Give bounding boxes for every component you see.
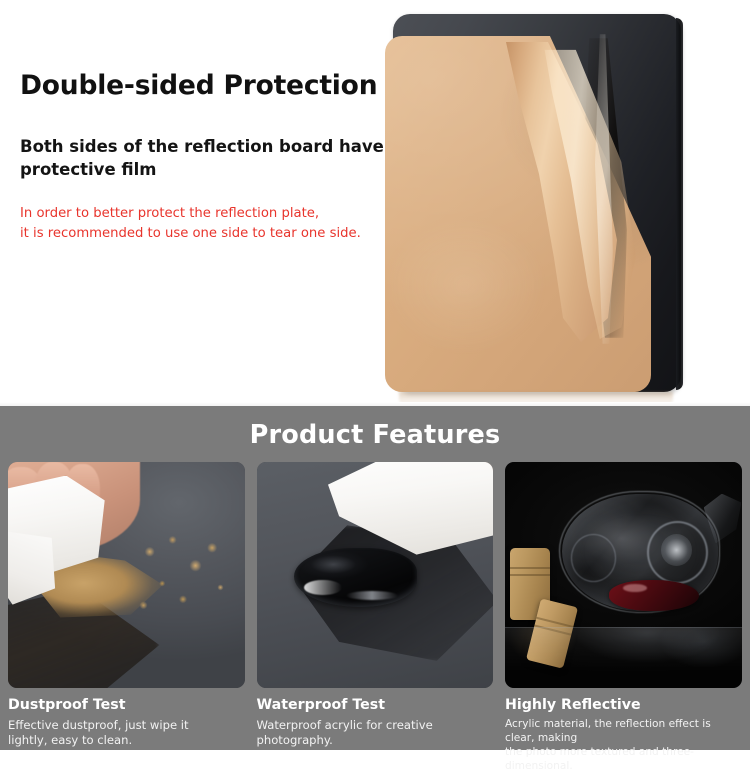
- hero-text-block: Double-sided Protection Both sides of th…: [20, 70, 400, 244]
- page-title: Double-sided Protection: [20, 70, 400, 102]
- hero-section: Double-sided Protection Both sides of th…: [0, 0, 750, 406]
- droplet-highlight: [304, 580, 342, 596]
- cork-ring: [510, 574, 550, 576]
- hero-note-line-1: In order to better protect the reflectio…: [20, 204, 395, 224]
- wine-highlight: [623, 584, 647, 592]
- feature-card-desc: Acrylic material, the reflection effect …: [505, 718, 742, 774]
- feature-card-list: Dustproof Test Effective dustproof, just…: [8, 462, 742, 774]
- feature-card-dustproof: Dustproof Test Effective dustproof, just…: [8, 462, 245, 774]
- surface-reflection: [505, 627, 742, 688]
- feature-photo-waterproof: [257, 462, 494, 688]
- feature-card-title: Waterproof Test: [257, 697, 494, 715]
- feature-card-title: Highly Reflective: [505, 697, 742, 715]
- hero-subtitle: Both sides of the reflection board have …: [20, 135, 385, 182]
- droplet-highlight: [346, 591, 398, 600]
- product-photo-acrylic-board: [385, 14, 685, 398]
- hero-note: In order to better protect the reflectio…: [20, 204, 395, 244]
- hero-note-line-2: it is recommended to use one side to tea…: [20, 224, 395, 244]
- feature-card-waterproof: Waterproof Test Waterproof acrylic for c…: [257, 462, 494, 774]
- feature-card-desc-line-2: lightly, easy to clean.: [8, 733, 245, 748]
- feature-card-title: Dustproof Test: [8, 697, 245, 715]
- features-title: Product Features: [0, 420, 750, 450]
- feature-photo-reflective: [505, 462, 742, 688]
- feature-card-desc-line-1: Waterproof acrylic for creative: [257, 718, 494, 733]
- feature-photo-dustproof: [8, 462, 245, 688]
- feature-card-reflective: Highly Reflective Acrylic material, the …: [505, 462, 742, 774]
- feature-card-desc: Effective dustproof, just wipe it lightl…: [8, 718, 245, 749]
- features-section: Product Features Dustproof Test Effectiv…: [0, 406, 750, 750]
- glass-reflection-swirl: [571, 534, 616, 581]
- feature-card-desc-line-1: Effective dustproof, just wipe it: [8, 718, 245, 733]
- acrylic-edge: [676, 18, 683, 390]
- cork-ring: [510, 567, 550, 569]
- feature-card-desc: Waterproof acrylic for creative photogra…: [257, 718, 494, 749]
- glass-highlight: [661, 534, 692, 566]
- red-wine: [609, 580, 699, 612]
- feature-card-desc-line-1: Acrylic material, the reflection effect …: [505, 718, 742, 746]
- sawdust-scatter: [131, 530, 235, 629]
- feature-card-desc-line-2: photography.: [257, 733, 494, 748]
